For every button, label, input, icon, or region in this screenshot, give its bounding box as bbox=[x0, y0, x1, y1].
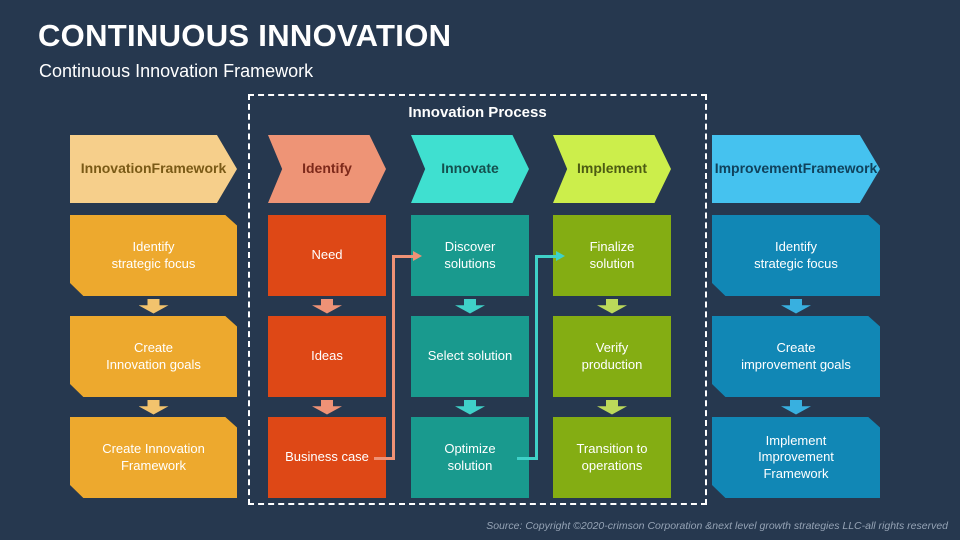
step-label-line1: Select solution bbox=[428, 348, 513, 363]
header-label-line2: Framework bbox=[152, 160, 227, 177]
step-label-line2: solution bbox=[590, 256, 635, 271]
step-label-line2: strategic focus bbox=[754, 256, 838, 271]
column-innovate: Innovate Discover solutions Select solut… bbox=[411, 135, 529, 498]
step-label-line2: Innovation goals bbox=[106, 357, 201, 372]
step-innovate-2[interactable]: Select solution bbox=[411, 316, 529, 397]
connector-segment-top bbox=[535, 255, 556, 258]
arrow-gap bbox=[268, 296, 386, 316]
arrow-gap bbox=[712, 397, 880, 417]
down-arrow-icon bbox=[455, 400, 485, 415]
column-identify: Identify Need Ideas Business case bbox=[268, 135, 386, 498]
step-innovation-framework-1[interactable]: Identify strategic focus bbox=[70, 215, 237, 296]
step-label-line1: Identify bbox=[133, 239, 175, 254]
step-improvement-framework-1[interactable]: Identify strategic focus bbox=[712, 215, 880, 296]
arrow-gap bbox=[268, 397, 386, 417]
step-label-line1: Identify bbox=[775, 239, 817, 254]
step-innovation-framework-3[interactable]: Create Innovation Framework bbox=[70, 417, 237, 498]
header-identify[interactable]: Identify bbox=[268, 135, 386, 203]
step-implement-2[interactable]: Verify production bbox=[553, 316, 671, 397]
down-arrow-icon bbox=[312, 400, 342, 415]
header-implement[interactable]: Implement bbox=[553, 135, 671, 203]
down-arrow-icon bbox=[597, 400, 627, 415]
step-label-line1: Create Innovation bbox=[102, 441, 205, 456]
step-label-line2: Framework bbox=[121, 458, 186, 473]
header-label-line1: Identify bbox=[302, 160, 352, 177]
header-label-line1: Improvement bbox=[715, 160, 803, 177]
step-identify-1[interactable]: Need bbox=[268, 215, 386, 296]
page-title: CONTINUOUS INNOVATION bbox=[38, 18, 451, 54]
arrow-right-icon bbox=[413, 251, 422, 261]
step-label-line2: solution bbox=[448, 458, 493, 473]
step-label-line1: Discover bbox=[445, 239, 496, 254]
down-arrow-icon bbox=[455, 299, 485, 314]
column-implement: Implement Finalize solution Verify produ… bbox=[553, 135, 671, 498]
step-label-line3: Framework bbox=[763, 466, 828, 481]
header-innovate[interactable]: Innovate bbox=[411, 135, 529, 203]
step-improvement-framework-2[interactable]: Create improvement goals bbox=[712, 316, 880, 397]
step-label-line1: Optimize bbox=[444, 441, 495, 456]
column-innovation-framework: Innovation Framework Identify strategic … bbox=[70, 135, 237, 498]
step-innovation-framework-2[interactable]: Create Innovation goals bbox=[70, 316, 237, 397]
arrow-gap bbox=[70, 296, 237, 316]
footer-source: Source: Copyright ©2020-crimson Corporat… bbox=[486, 520, 948, 532]
column-improvement-framework: Improvement Framework Identify strategic… bbox=[712, 135, 880, 498]
step-label-line1: Implement bbox=[766, 433, 827, 448]
header-label-line2: Framework bbox=[803, 160, 878, 177]
connector-segment-vertical bbox=[392, 255, 395, 460]
step-label-line2: solutions bbox=[444, 256, 495, 271]
arrow-gap bbox=[411, 296, 529, 316]
step-label-line2: strategic focus bbox=[112, 256, 196, 271]
down-arrow-icon bbox=[139, 400, 169, 415]
header-improvement-framework[interactable]: Improvement Framework bbox=[712, 135, 880, 203]
step-label-line1: Verify bbox=[596, 340, 629, 355]
arrow-gap bbox=[553, 397, 671, 417]
step-identify-3[interactable]: Business case bbox=[268, 417, 386, 498]
step-implement-3[interactable]: Transition to operations bbox=[553, 417, 671, 498]
step-identify-2[interactable]: Ideas bbox=[268, 316, 386, 397]
down-arrow-icon bbox=[312, 299, 342, 314]
step-label-line1: Need bbox=[311, 247, 342, 262]
arrow-gap bbox=[70, 397, 237, 417]
step-label-line1: Transition to bbox=[576, 441, 647, 456]
arrow-gap bbox=[712, 296, 880, 316]
step-label-line1: Create bbox=[134, 340, 173, 355]
step-label-line1: Ideas bbox=[311, 348, 343, 363]
down-arrow-icon bbox=[597, 299, 627, 314]
step-label-line1: Business case bbox=[285, 449, 369, 464]
down-arrow-icon bbox=[781, 299, 811, 314]
innovation-process-label: Innovation Process bbox=[248, 104, 707, 121]
step-improvement-framework-3[interactable]: Implement Improvement Framework bbox=[712, 417, 880, 498]
arrow-right-icon bbox=[556, 251, 565, 261]
page-subtitle: Continuous Innovation Framework bbox=[39, 61, 313, 82]
header-label-line1: Innovation bbox=[81, 160, 152, 177]
down-arrow-icon bbox=[139, 299, 169, 314]
step-label-line1: Create bbox=[776, 340, 815, 355]
step-label-line2: Improvement bbox=[758, 449, 834, 464]
step-label-line2: production bbox=[582, 357, 643, 372]
down-arrow-icon bbox=[781, 400, 811, 415]
arrow-gap bbox=[411, 397, 529, 417]
slide-canvas: CONTINUOUS INNOVATION Continuous Innovat… bbox=[0, 0, 960, 540]
step-innovate-1[interactable]: Discover solutions bbox=[411, 215, 529, 296]
connector-segment-vertical bbox=[535, 255, 538, 460]
step-label-line1: Finalize bbox=[590, 239, 635, 254]
header-label-line1: Innovate bbox=[441, 160, 499, 177]
connector-segment-top bbox=[392, 255, 413, 258]
step-innovate-3[interactable]: Optimize solution bbox=[411, 417, 529, 498]
step-label-line2: operations bbox=[582, 458, 643, 473]
step-implement-1[interactable]: Finalize solution bbox=[553, 215, 671, 296]
step-label-line2: improvement goals bbox=[741, 357, 851, 372]
header-innovation-framework[interactable]: Innovation Framework bbox=[70, 135, 237, 203]
header-label-line1: Implement bbox=[577, 160, 647, 177]
arrow-gap bbox=[553, 296, 671, 316]
